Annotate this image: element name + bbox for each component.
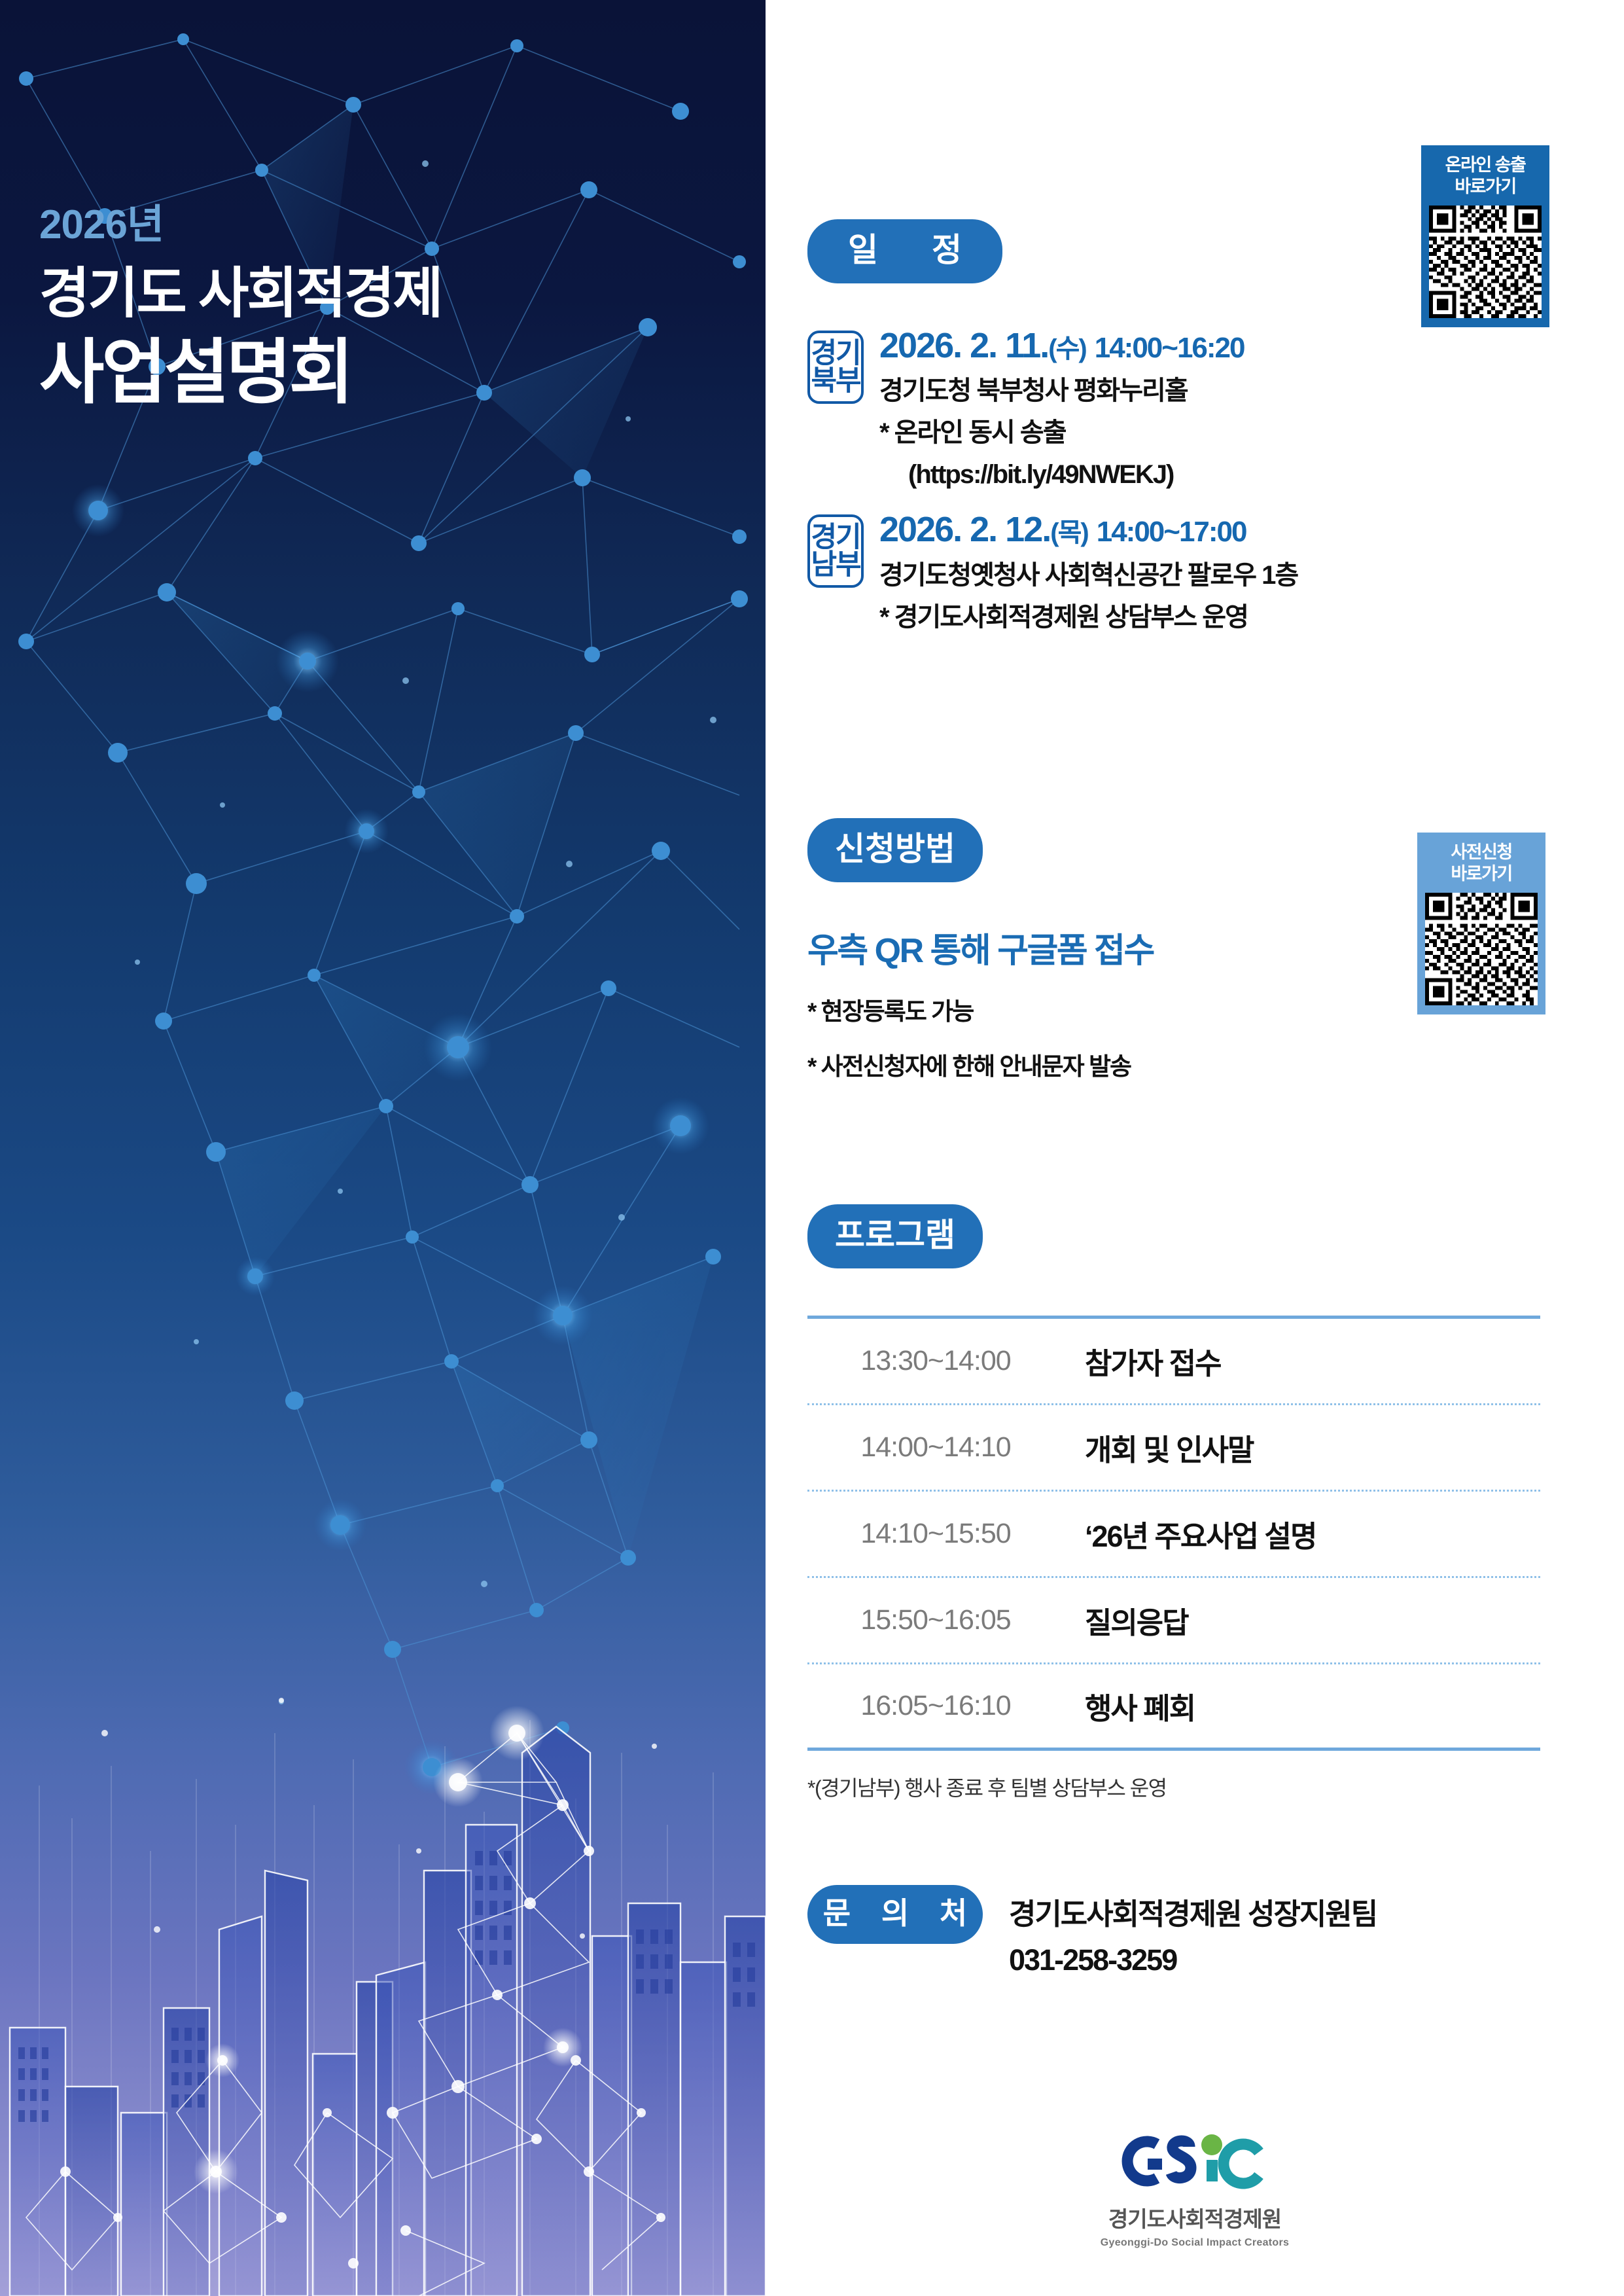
schedule-south-time: 14:00~17:00 — [1097, 516, 1246, 548]
qr-online-caption-line1: 온라인 송출 — [1421, 154, 1549, 176]
contact-team: 경기도사회적경제원 성장지원팀 — [1009, 1892, 1377, 1937]
program-row-time: 15:50~16:05 — [807, 1604, 1064, 1636]
gsic-logo-block: 경기도사회적경제원 Gyeonggi-Do Social Impact Crea… — [766, 2127, 1624, 2249]
program-table: 13:30~14:00 참가자 접수 14:00~14:10 개회 및 인사말 … — [807, 1316, 1540, 1751]
poster-content-panel: 일 정 경기 북부 2026. 2. 11.(수) 14:00~16:20 경기… — [766, 0, 1624, 2296]
program-row: 14:10~15:50 ‘26년 주요사업 설명 — [807, 1492, 1540, 1578]
qr-apply-code-image[interactable] — [1425, 893, 1538, 1005]
qr-apply-caption: 사전신청 바로가기 — [1417, 833, 1545, 893]
schedule-south-venue: 경기도청옛청사 사회혁신공간 팔로우 1층 — [879, 559, 1297, 592]
poster-title-block: 2026년 경기도 사회적경제 사업설명회 — [39, 203, 442, 414]
program-row-time: 13:30~14:00 — [807, 1345, 1064, 1377]
schedule-north-day: (수) — [1048, 334, 1086, 363]
qr-online-code-image[interactable] — [1429, 206, 1542, 318]
program-row-time: 14:10~15:50 — [807, 1518, 1064, 1550]
schedule-north-date: 2026. 2. 11. — [879, 326, 1048, 365]
schedule-north-stream-url[interactable]: (https://bit.ly/49NWEKJ) — [879, 458, 1297, 491]
program-row: 13:30~14:00 참가자 접수 — [807, 1319, 1540, 1405]
program-row-time: 14:00~14:10 — [807, 1431, 1064, 1463]
program-row-desc: ‘26년 주요사업 설명 — [1064, 1513, 1316, 1555]
schedule-south-date: 2026. 2. 12. — [879, 510, 1050, 549]
apply-method-section: 신청방법 우측 QR 통해 구글폼 접수 * 현장등록도 가능 * 사전신청자에… — [807, 818, 1154, 1082]
program-row-desc: 질의응답 — [1064, 1599, 1188, 1641]
gsic-logo-name-kr: 경기도사회적경제원 — [766, 2202, 1624, 2233]
region-badge-south: 경기 남부 — [807, 514, 864, 588]
contact-section: 문 의 처 경기도사회적경제원 성장지원팀 031-258-3259 — [807, 1885, 1377, 1983]
apply-main-text: 우측 QR 통해 구글폼 접수 — [807, 923, 1154, 972]
schedule-south-note: * 경기도사회적경제원 상담부스 운영 — [879, 601, 1297, 634]
qr-preregistration-block[interactable]: 사전신청 바로가기 — [1417, 833, 1545, 1014]
region-badge-north-line2: 북부 — [811, 367, 860, 395]
program-row: 16:05~16:10 행사 폐회 — [807, 1664, 1540, 1751]
poster-title-line2: 사업설명회 — [39, 331, 442, 414]
schedule-entry-north: 경기 북부 2026. 2. 11.(수) 14:00~16:20 경기도청 북… — [807, 327, 1297, 491]
region-badge-north: 경기 북부 — [807, 331, 864, 404]
schedule-entry-south: 경기 남부 2026. 2. 12.(목) 14:00~17:00 경기도청옛청… — [807, 511, 1297, 633]
contact-heading-badge: 문 의 처 — [807, 1885, 983, 1944]
program-row-desc: 행사 폐회 — [1064, 1685, 1195, 1727]
region-badge-south-line1: 경기 — [811, 524, 860, 551]
schedule-north-time: 14:00~16:20 — [1095, 332, 1244, 364]
schedule-heading-badge: 일 정 — [807, 219, 1002, 283]
schedule-south-datetime: 2026. 2. 12.(목) 14:00~17:00 — [879, 511, 1297, 549]
gsic-logo-mark — [1110, 2127, 1280, 2198]
program-row-time: 16:05~16:10 — [807, 1690, 1064, 1722]
apply-note-2: * 사전신청자에 한해 안내문자 발송 — [807, 1047, 1154, 1082]
program-row: 14:00~14:10 개회 및 인사말 — [807, 1405, 1540, 1492]
schedule-section: 일 정 경기 북부 2026. 2. 11.(수) 14:00~16:20 경기… — [807, 219, 1297, 634]
qr-apply-caption-line2: 바로가기 — [1417, 863, 1545, 885]
schedule-north-datetime: 2026. 2. 11.(수) 14:00~16:20 — [879, 327, 1297, 365]
city-skyline-graphic — [0, 1655, 766, 2296]
schedule-north-venue: 경기도청 북부청사 평화누리홀 — [879, 374, 1297, 407]
program-footnote: *(경기남부) 행사 종료 후 팀별 상담부스 운영 — [807, 1772, 1542, 1802]
program-heading-badge: 프로그램 — [807, 1204, 983, 1268]
qr-online-caption-line2: 바로가기 — [1421, 176, 1549, 198]
contact-phone[interactable]: 031-258-3259 — [1009, 1937, 1377, 1983]
program-row-desc: 개회 및 인사말 — [1064, 1426, 1253, 1469]
region-badge-north-line1: 경기 — [811, 340, 860, 367]
program-section: 프로그램 13:30~14:00 참가자 접수 14:00~14:10 개회 및… — [807, 1204, 1542, 1802]
gsic-logo-name-en: Gyeonggi-Do Social Impact Creators — [766, 2237, 1624, 2249]
program-row: 15:50~16:05 질의응답 — [807, 1578, 1540, 1664]
apply-heading-badge: 신청방법 — [807, 818, 983, 882]
poster-left-graphic-panel: 2026년 경기도 사회적경제 사업설명회 — [0, 0, 766, 2296]
schedule-south-day: (목) — [1050, 518, 1087, 547]
schedule-north-note: * 온라인 동시 송출 — [879, 416, 1297, 449]
poster-year: 2026년 — [39, 203, 442, 247]
qr-online-caption: 온라인 송출 바로가기 — [1421, 145, 1549, 206]
apply-note-1: * 현장등록도 가능 — [807, 992, 1154, 1027]
program-row-desc: 참가자 접수 — [1064, 1340, 1221, 1382]
qr-apply-caption-line1: 사전신청 — [1417, 842, 1545, 863]
qr-online-stream-block[interactable]: 온라인 송출 바로가기 — [1421, 145, 1549, 327]
poster-title-line1: 경기도 사회적경제 — [39, 259, 442, 328]
region-badge-south-line2: 남부 — [811, 551, 860, 579]
